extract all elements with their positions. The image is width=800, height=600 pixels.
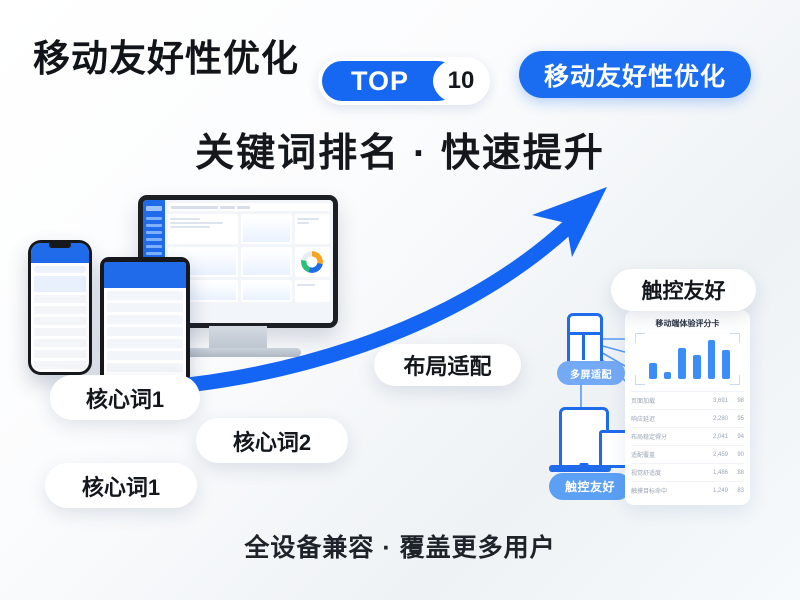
score-row-name: 触摸目标命中 (631, 486, 704, 495)
score-card-row: 适配覆盖2,45990 (631, 445, 744, 463)
phone-screen (31, 243, 89, 372)
score-row-value: 2,280 (704, 416, 728, 422)
score-bar (664, 372, 672, 379)
chip-multi-screen: 多屏适配 (557, 361, 625, 385)
score-row-score: 88 (728, 470, 744, 476)
score-bar (649, 363, 657, 379)
score-bar (678, 348, 686, 379)
score-row-score: 90 (728, 452, 744, 458)
score-row-score: 95 (728, 416, 744, 422)
score-bars (649, 337, 730, 379)
score-card-row: 视觉舒适度1,48688 (631, 463, 744, 481)
score-row-value: 1,249 (704, 488, 728, 494)
score-bar (722, 350, 730, 379)
layout-pill[interactable]: 布局适配 (374, 344, 521, 386)
score-row-score: 98 (728, 398, 744, 404)
score-row-score: 83 (728, 488, 744, 494)
score-row-value: 2,041 (704, 434, 728, 440)
top-rank-badge: TOP 10 (318, 57, 490, 105)
poster-canvas: 移动友好性优化 TOP 10 移动友好性优化 关键词排名 · 快速提升 (0, 0, 800, 600)
score-card-rows: 页面加载3,69198响应延迟2,28095布局稳定得分2,04194适配覆盖2… (631, 391, 744, 499)
footer-tagline: 全设备兼容 · 覆盖更多用户 (0, 528, 800, 564)
score-row-value: 2,459 (704, 452, 728, 458)
chip-touch-friendly: 触控友好 (549, 473, 631, 500)
score-row-value: 3,691 (704, 398, 728, 404)
mobile-score-card: 移动端体验评分卡 页面加载3,69198响应延迟2,28095布局稳定得分2,0… (625, 310, 750, 505)
keyword-pill-1[interactable]: 核心词1 (50, 375, 200, 420)
phone-notch (49, 242, 71, 248)
page-subtitle: 关键词排名 · 快速提升 (0, 122, 800, 178)
score-card-row: 触摸目标命中1,24983 (631, 481, 744, 499)
score-row-name: 适配覆盖 (631, 450, 704, 459)
score-bar (708, 340, 716, 379)
score-card-row: 布局稳定得分2,04194 (631, 427, 744, 445)
keyword-pill-3[interactable]: 核心词1 (45, 463, 197, 508)
score-card-chart (635, 333, 740, 385)
score-bar (693, 355, 701, 379)
page-title: 移动友好性优化 (33, 28, 299, 82)
device-network-diagram: 多屏适配 触控友好 移动端体验评分卡 页面加载3,69198响应延迟2,2809… (545, 305, 795, 520)
keyword-pill-2[interactable]: 核心词2 (196, 418, 348, 463)
score-card-row: 响应延迟2,28095 (631, 409, 744, 427)
smartphone-mockup (28, 240, 92, 375)
diagram-device-stand (549, 465, 611, 472)
header-chip: 移动友好性优化 (519, 51, 751, 98)
score-row-name: 视觉舒适度 (631, 468, 704, 477)
touch-pill[interactable]: 触控友好 (611, 269, 756, 311)
top-badge-rank: 10 (436, 61, 486, 101)
score-row-name: 布局稳定得分 (631, 432, 704, 441)
score-row-value: 1,486 (704, 470, 728, 476)
score-row-score: 94 (728, 434, 744, 440)
score-row-name: 页面加载 (631, 396, 704, 405)
score-card-title: 移动端体验评分卡 (631, 318, 744, 329)
score-row-name: 响应延迟 (631, 414, 704, 423)
score-card-row: 页面加载3,69198 (631, 391, 744, 409)
